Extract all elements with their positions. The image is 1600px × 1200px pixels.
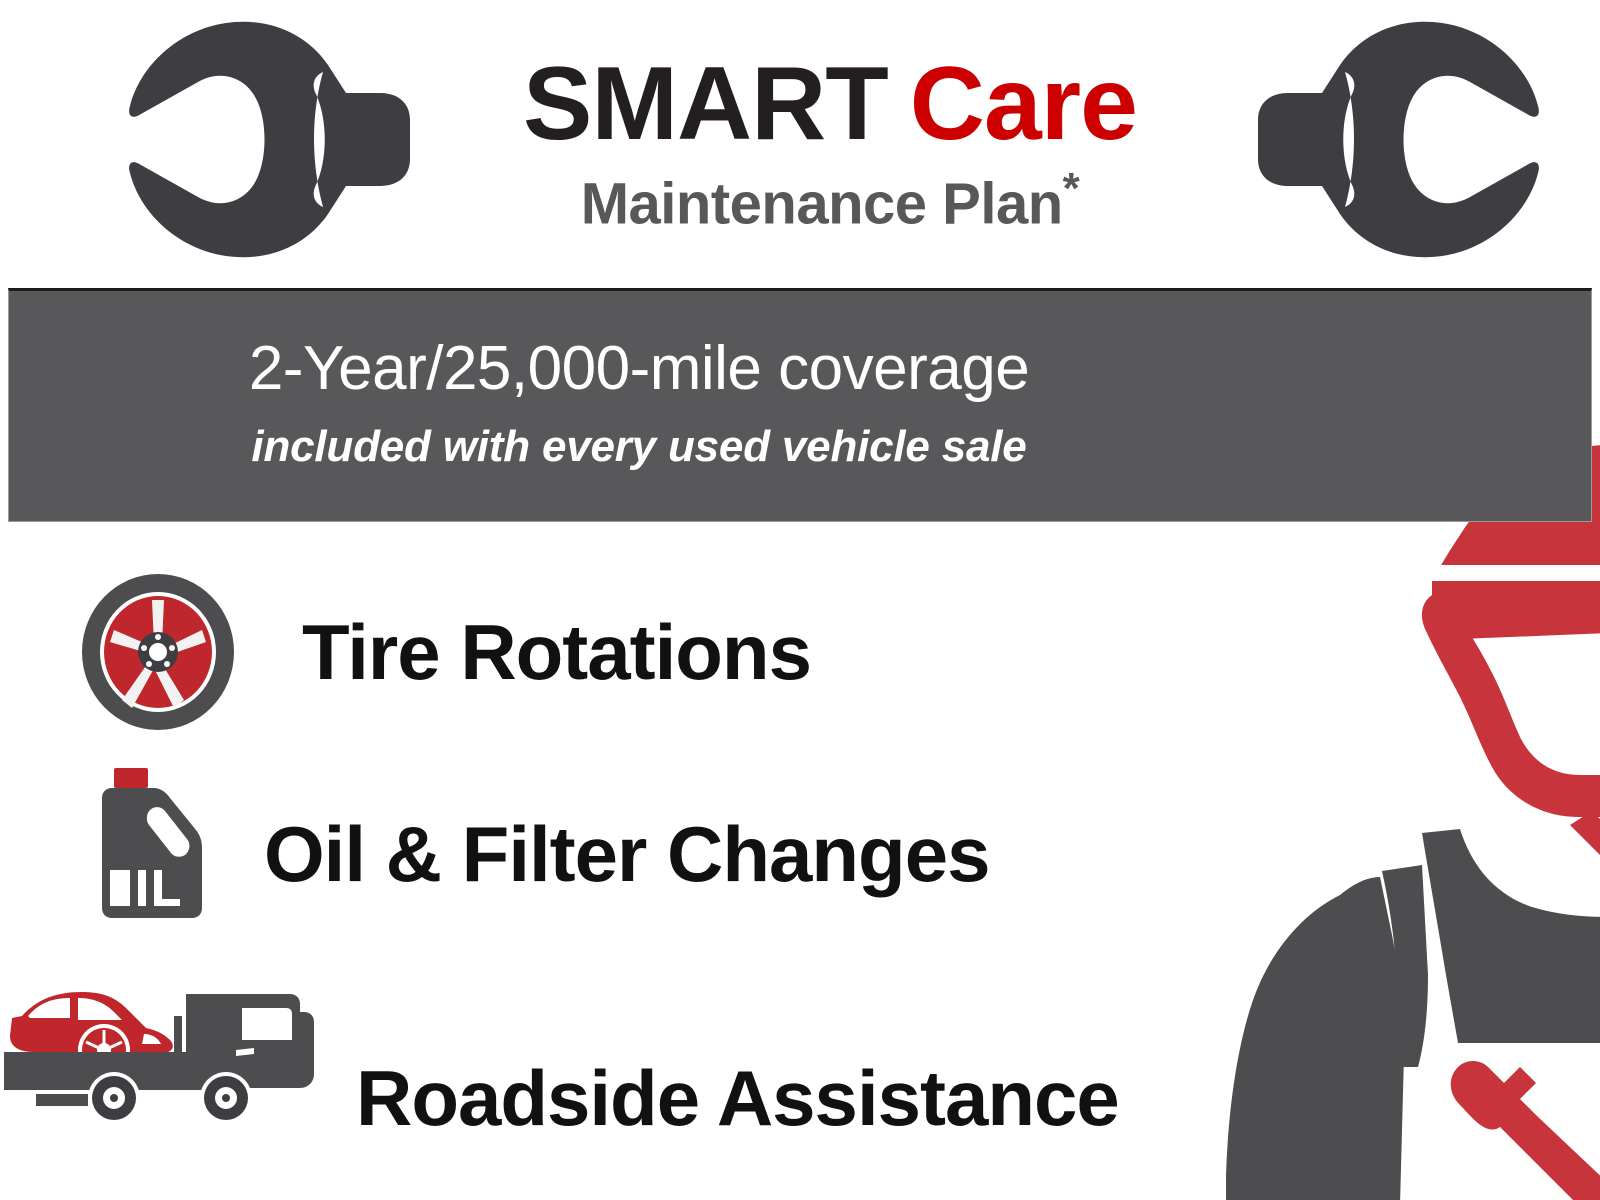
oil-bottle-icon: [88, 766, 204, 918]
wrench-icon: [118, 14, 428, 264]
brand-subtitle-text: Maintenance Plan: [581, 171, 1063, 236]
brand-lockup: SMARTCare Maintenance Plan*: [420, 52, 1240, 237]
smart-care-flyer: SMARTCare Maintenance Plan* 2-Year/25,00…: [0, 0, 1600, 1200]
coverage-headline: 2-Year/25,000-mile coverage: [9, 333, 1269, 404]
feature-row-roadside-assistance: Roadside Assistance: [4, 978, 1119, 1126]
brand-name-secondary: Care: [910, 46, 1137, 162]
coverage-subline: included with every used vehicle sale: [9, 422, 1269, 472]
coverage-banner: 2-Year/25,000-mile coverage included wit…: [8, 288, 1592, 522]
tow-truck-icon: [4, 978, 326, 1126]
brand-title: SMARTCare: [420, 52, 1240, 156]
brand-subtitle-asterisk: *: [1063, 164, 1080, 213]
feature-label-roadside-assistance: Roadside Assistance: [356, 1059, 1119, 1137]
feature-row-tire-rotations: Tire Rotations: [80, 572, 811, 732]
wrench-icon: [1240, 14, 1550, 264]
feature-row-oil-filter-changes: Oil & Filter Changes: [88, 766, 989, 918]
tire-icon: [80, 572, 236, 732]
brand-name-primary: SMART: [523, 46, 888, 162]
coverage-banner-text: 2-Year/25,000-mile coverage included wit…: [9, 291, 1269, 472]
mechanic-with-wrench-icon: [1160, 415, 1600, 1200]
feature-label-tire-rotations: Tire Rotations: [302, 613, 811, 691]
brand-subtitle: Maintenance Plan*: [420, 164, 1240, 237]
header: SMARTCare Maintenance Plan*: [0, 0, 1600, 282]
feature-label-oil-filter-changes: Oil & Filter Changes: [264, 815, 989, 893]
